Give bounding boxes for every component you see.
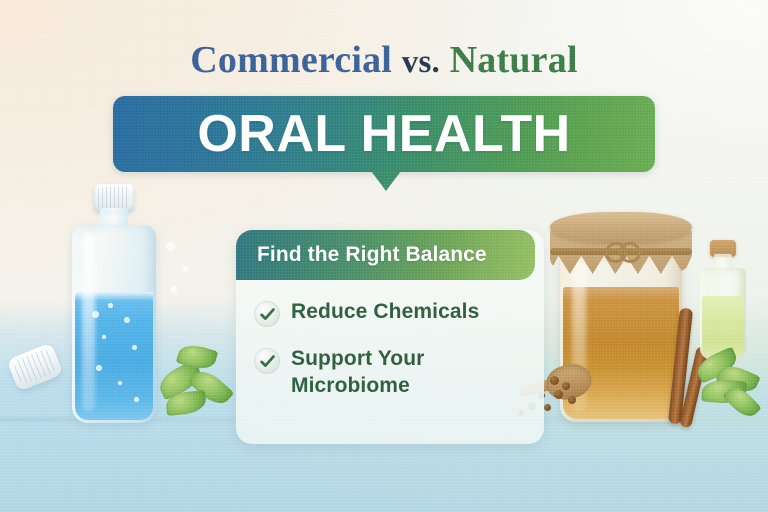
- balance-card: Find the Right Balance Reduce Chemicals …: [236, 230, 544, 444]
- natural-remedy-illustration: [510, 196, 768, 454]
- bubble-icon: [132, 345, 137, 350]
- clove-seed-icon: [550, 376, 559, 385]
- card-header-label: Find the Right Balance: [236, 243, 487, 267]
- list-item-label: Reduce Chemicals: [291, 298, 479, 325]
- check-icon: [254, 348, 280, 374]
- bubble-icon: [118, 381, 122, 385]
- clove-seed-icon: [568, 396, 576, 404]
- page-title: Commercial vs. Natural: [0, 38, 768, 84]
- bubble-icon: [92, 311, 99, 318]
- banner-ribbon: ORAL HEALTH: [113, 96, 655, 172]
- bubble-icon: [102, 335, 106, 339]
- list-item: Reduce Chemicals: [254, 298, 528, 327]
- list-item-label: Support Your Microbiome: [291, 345, 501, 399]
- clove-seed-icon: [562, 382, 570, 390]
- twine-bow-icon: [605, 240, 641, 260]
- jar-lid-top: [550, 212, 692, 242]
- clove-seed-icon: [554, 390, 563, 399]
- oil-liquid: [702, 296, 744, 358]
- bubble-icon: [96, 365, 102, 371]
- check-icon: [254, 301, 280, 327]
- bubble-icon: [182, 266, 188, 272]
- essential-oil-bottle: [700, 268, 746, 360]
- title-word-natural: Natural: [450, 39, 578, 81]
- banner-title: ORAL HEALTH: [113, 96, 655, 172]
- bubble-icon: [170, 286, 177, 293]
- mouthwash-bottle: [72, 225, 156, 423]
- benefit-list: Reduce Chemicals Support Your Microbiome: [236, 288, 544, 417]
- loose-bottle-cap: [6, 342, 63, 392]
- bubble-icon: [108, 303, 113, 308]
- bubble-icon: [124, 317, 130, 323]
- bubble-icon: [134, 397, 139, 402]
- title-word-commercial: Commercial: [190, 39, 392, 81]
- title-word-vs: vs.: [402, 44, 440, 80]
- clove-seed-icon: [544, 404, 551, 411]
- glass-highlight: [82, 233, 95, 411]
- bubble-icon: [166, 242, 175, 251]
- card-header: Find the Right Balance: [236, 230, 535, 280]
- commercial-mouthwash-illustration: [0, 170, 235, 460]
- infographic-canvas: Commercial vs. Natural ORAL HEALTH Find …: [0, 0, 768, 512]
- list-item: Support Your Microbiome: [254, 345, 528, 399]
